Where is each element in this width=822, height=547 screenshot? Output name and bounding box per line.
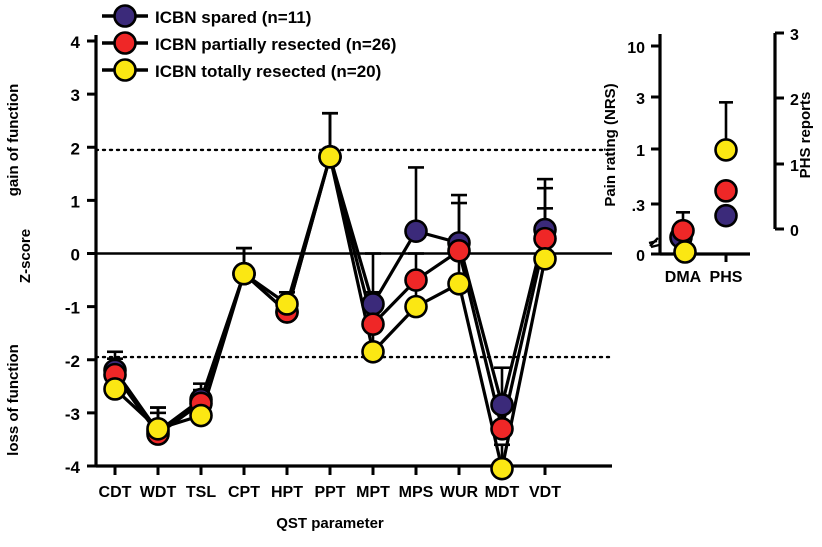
legend-label-total: ICBN totally resected (n=20) — [155, 62, 381, 81]
inset-data-point — [673, 220, 694, 241]
qst-figure: 43210-1-2-3-4CDTWDTTSLCPTHPTPPTMPTMPSWUR… — [0, 0, 822, 547]
y-tick-label: 0 — [71, 246, 80, 265]
inset-left-tick-label: .3 — [632, 198, 645, 215]
x-category-label-mpt: MPT — [356, 484, 390, 501]
data-point — [492, 418, 513, 439]
data-point — [191, 405, 212, 426]
x-axis-title: QST parameter — [276, 515, 384, 532]
y-tick-label: -2 — [65, 352, 80, 371]
data-point — [363, 341, 384, 362]
x-category-label-ppt: PPT — [314, 484, 345, 501]
inset-data-point — [716, 139, 737, 160]
inset-left-axis-title: Pain rating (NRS) — [602, 83, 619, 206]
legend-marker-partial — [115, 33, 136, 54]
inset-right-axis-title: PHS reports — [797, 92, 814, 179]
inset-right-tick-label: 0 — [790, 223, 799, 240]
inset-data-point — [716, 205, 737, 226]
x-category-label-mdt: MDT — [485, 484, 520, 501]
inset-left-tick-label: 3 — [636, 91, 645, 108]
data-point — [363, 314, 384, 335]
x-category-label-cpt: CPT — [228, 484, 260, 501]
y-tick-label: 1 — [71, 192, 80, 211]
legend-label-spared: ICBN spared (n=11) — [155, 8, 311, 27]
inset-category-label-dma: DMA — [665, 269, 702, 286]
x-category-label-vdt: VDT — [529, 484, 561, 501]
inset-plot: 0.313100123DMAPHSPain rating (NRS)PHS re… — [602, 27, 814, 286]
inset-data-point — [675, 242, 696, 263]
y-axis-loss-label: loss of function — [5, 344, 22, 456]
y-tick-label: 2 — [71, 139, 80, 158]
data-point — [449, 240, 470, 261]
y-tick-label: -3 — [65, 405, 80, 424]
inset-data-point — [716, 180, 737, 201]
y-axis-title: Z-score — [17, 229, 34, 283]
y-tick-label: 3 — [71, 86, 80, 105]
y-tick-label: -1 — [65, 299, 80, 318]
data-point — [492, 394, 513, 415]
axis-break-icon — [649, 238, 659, 247]
x-category-label-wdt: WDT — [140, 484, 177, 501]
y-tick-label: 4 — [71, 33, 81, 52]
figure-root: 43210-1-2-3-4CDTWDTTSLCPTHPTPPTMPTMPSWUR… — [0, 0, 822, 547]
inset-left-tick-label: 10 — [627, 40, 645, 57]
inset-left-tick-label: 0 — [636, 248, 645, 265]
data-point — [406, 270, 427, 291]
legend-marker-total — [115, 60, 136, 81]
legend: ICBN spared (n=11)ICBN partially resecte… — [102, 6, 396, 82]
x-category-label-mps: MPS — [399, 484, 434, 501]
data-point — [449, 273, 470, 294]
x-category-label-wur: WUR — [440, 484, 479, 501]
inset-left-tick-label: 1 — [636, 143, 645, 160]
inset-right-tick-label: 3 — [790, 27, 799, 44]
series-line — [115, 157, 545, 469]
data-point — [535, 248, 556, 269]
legend-label-partial: ICBN partially resected (n=26) — [155, 35, 396, 54]
x-category-label-hpt: HPT — [271, 484, 303, 501]
legend-marker-spared — [115, 6, 136, 27]
data-point — [492, 458, 513, 479]
y-tick-label: -4 — [65, 458, 81, 477]
data-point — [105, 378, 126, 399]
x-category-label-cdt: CDT — [99, 484, 132, 501]
data-point — [234, 263, 255, 284]
data-point — [148, 418, 169, 439]
main-plot: 43210-1-2-3-4CDTWDTTSLCPTHPTPPTMPTMPSWUR… — [5, 33, 612, 532]
data-point — [363, 293, 384, 314]
series-line — [115, 157, 545, 434]
data-point — [277, 293, 298, 314]
data-point — [406, 221, 427, 242]
inset-category-label-phs: PHS — [710, 269, 743, 286]
series-line — [115, 157, 545, 432]
data-point — [320, 146, 341, 167]
x-category-label-tsl: TSL — [186, 484, 216, 501]
y-axis-gain-label: gain of function — [5, 84, 22, 196]
data-point — [535, 228, 556, 249]
data-point — [406, 296, 427, 317]
